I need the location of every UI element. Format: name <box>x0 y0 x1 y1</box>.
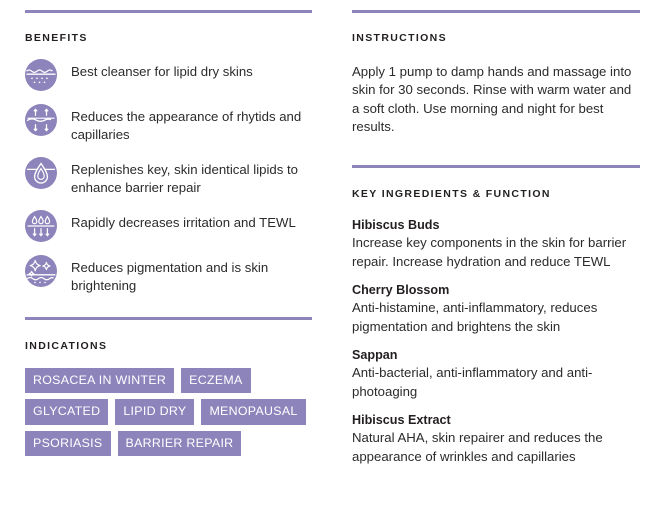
key-ingredients-divider <box>352 165 640 168</box>
instructions-heading: INSTRUCTIONS <box>352 33 640 44</box>
benefit-label: Reduces pigmentation and is skin brighte… <box>71 254 303 295</box>
lipid-droplet-icon <box>25 157 57 189</box>
indication-tag[interactable]: PSORIASIS <box>25 431 111 456</box>
indication-tag[interactable]: LIPID DRY <box>115 399 194 424</box>
indications-heading: INDICATIONS <box>25 341 315 352</box>
benefit-item: Replenishes key, skin identical lipids t… <box>25 156 315 197</box>
ingredient-item: Sappan Anti-bacterial, anti-inflammatory… <box>352 347 640 401</box>
ingredient-name: Hibiscus Buds <box>352 217 640 233</box>
indication-tag[interactable]: MENOPAUSAL <box>201 399 305 424</box>
indication-tag[interactable]: ECZEMA <box>181 368 250 393</box>
ingredient-item: Hibiscus Extract Natural AHA, skin repai… <box>352 412 640 466</box>
indication-tag[interactable]: GLYCATED <box>25 399 108 424</box>
indications-tag-list: ROSACEA IN WINTER ECZEMA GLYCATED LIPID … <box>25 368 315 456</box>
benefit-item: Reduces pigmentation and is skin brighte… <box>25 254 315 295</box>
right-column: INSTRUCTIONS Apply 1 pump to damp hands … <box>352 0 640 477</box>
benefit-label: Best cleanser for lipid dry skins <box>71 58 253 81</box>
benefit-label: Replenishes key, skin identical lipids t… <box>71 156 303 197</box>
benefits-heading: BENEFITS <box>25 33 315 44</box>
benefit-item: Best cleanser for lipid dry skins <box>25 58 315 91</box>
benefit-item: Reduces the appearance of rhytids and ca… <box>25 103 315 144</box>
skin-firming-arrows-icon <box>25 104 57 136</box>
ingredient-description: Natural AHA, skin repairer and reduces t… <box>352 429 640 466</box>
benefit-label: Rapidly decreases irritation and TEWL <box>71 209 296 232</box>
ingredient-description: Anti-histamine, anti-inflammatory, reduc… <box>352 299 640 336</box>
product-info-sheet: BENEFITS Best <box>0 0 663 532</box>
ingredient-description: Anti-bacterial, anti-inflammatory and an… <box>352 364 640 401</box>
instructions-body: Apply 1 pump to damp hands and massage i… <box>352 63 640 137</box>
benefits-divider <box>25 10 312 13</box>
benefits-list: Best cleanser for lipid dry skins <box>25 58 315 295</box>
key-ingredients-heading: KEY INGREDIENTS & FUNCTION <box>352 189 640 200</box>
ingredient-item: Hibiscus Buds Increase key components in… <box>352 217 640 271</box>
indication-tag[interactable]: BARRIER REPAIR <box>118 431 242 456</box>
ingredient-name: Hibiscus Extract <box>352 412 640 428</box>
indication-tag[interactable]: ROSACEA IN WINTER <box>25 368 174 393</box>
ingredient-description: Increase key components in the skin for … <box>352 234 640 271</box>
skin-brightening-sparkle-icon <box>25 255 57 287</box>
ingredient-name: Sappan <box>352 347 640 363</box>
ingredient-name: Cherry Blossom <box>352 282 640 298</box>
key-ingredients-list: Hibiscus Buds Increase key components in… <box>352 217 640 466</box>
benefit-label: Reduces the appearance of rhytids and ca… <box>71 103 303 144</box>
water-loss-down-arrows-icon <box>25 210 57 242</box>
left-column: BENEFITS Best <box>25 0 315 456</box>
ingredient-item: Cherry Blossom Anti-histamine, anti-infl… <box>352 282 640 336</box>
instructions-divider <box>352 10 640 13</box>
indications-divider <box>25 317 312 320</box>
benefit-item: Rapidly decreases irritation and TEWL <box>25 209 315 242</box>
skin-surface-hydration-icon <box>25 59 57 91</box>
